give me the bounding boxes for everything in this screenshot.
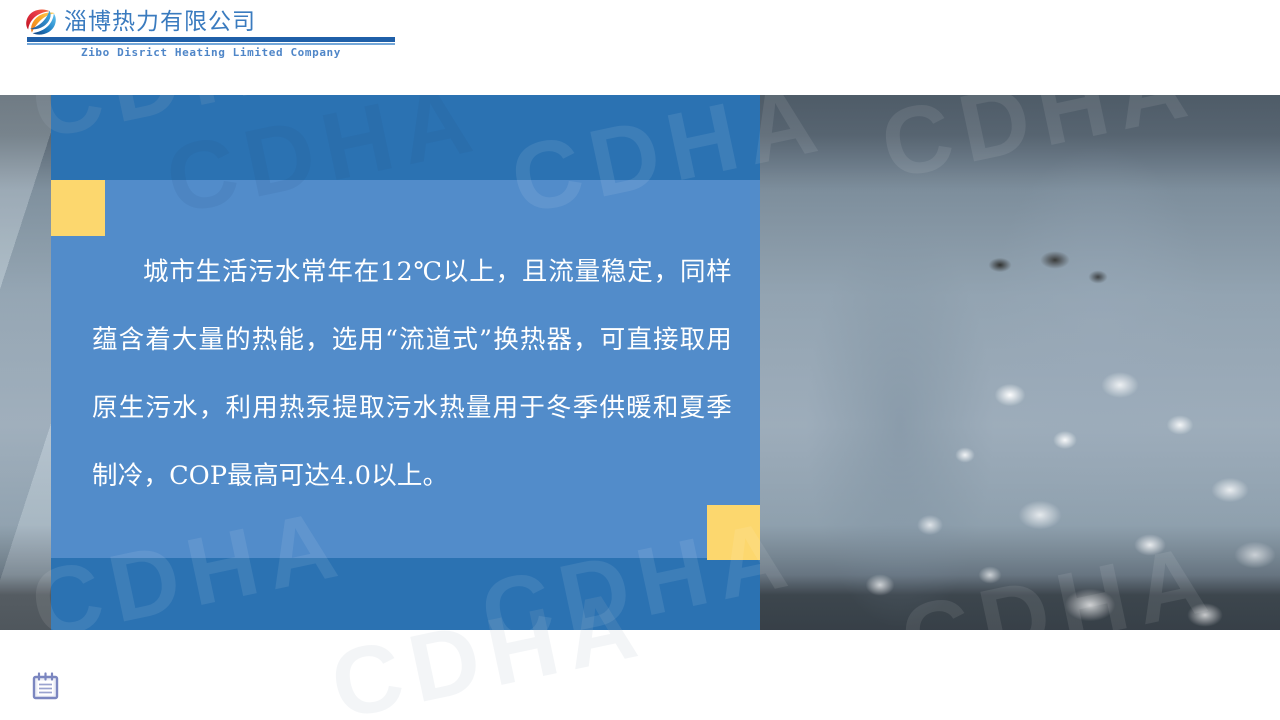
notepad-icon[interactable]	[30, 670, 62, 702]
header-rule-thin	[27, 43, 395, 45]
header-rule-thick	[27, 37, 395, 42]
accent-square-top-left	[51, 180, 105, 236]
accent-square-bottom-right	[707, 505, 760, 560]
slide-header: 淄博热力有限公司 Zibo Disrict Heating Limited Co…	[0, 0, 1280, 95]
company-name-cn: 淄博热力有限公司	[64, 8, 256, 36]
flame-swoosh-logo-icon	[23, 7, 59, 37]
panel-dark-top	[51, 95, 760, 180]
slide-canvas: CDHA CDHA CDHA CDHA CDHA CDHA CDHA CDHA …	[0, 0, 1280, 720]
panel-dark-bottom	[51, 558, 760, 630]
body-paragraph: 城市生活污水常年在12℃以上，且流量稳定，同样蕴含着大量的热能，选用“流道式”换…	[92, 238, 732, 510]
company-name-en: Zibo Disrict Heating Limited Company	[27, 46, 395, 59]
